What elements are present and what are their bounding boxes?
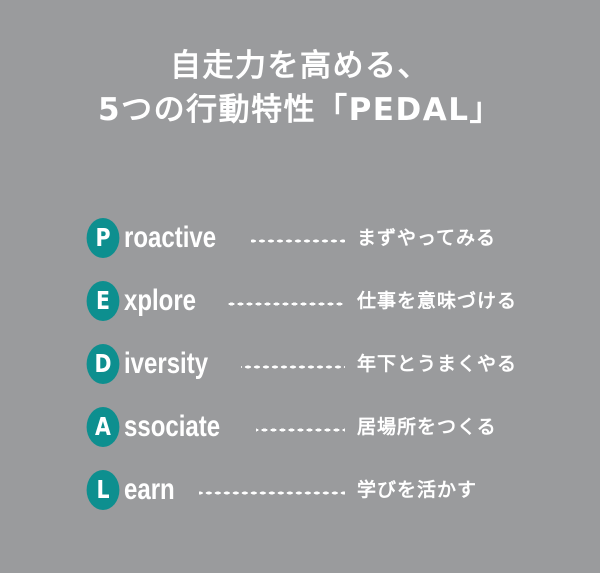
description-explore: 仕事を意味づける <box>357 281 523 321</box>
initial-badge-d: D <box>87 344 120 384</box>
list-item: A ssociate 居場所をつくる <box>83 395 523 458</box>
keyword-associate: ssociate <box>124 407 220 447</box>
list-item: P roactive まずやってみる <box>83 206 523 269</box>
initial-badge-l: L <box>87 470 120 510</box>
dot-leader <box>199 491 345 495</box>
dot-leader <box>241 365 345 369</box>
description-associate: 居場所をつくる <box>357 407 523 447</box>
list-item: E xplore 仕事を意味づける <box>83 269 523 332</box>
keyword-diversity: iversity <box>124 344 208 384</box>
description-diversity: 年下とうまくやる <box>357 344 523 384</box>
list-item: D iversity 年下とうまくやる <box>83 332 523 395</box>
page-title: 自走力を高める、 5つの行動特性「PEDAL」 <box>0 44 600 132</box>
initial-badge-e: E <box>87 281 120 321</box>
dot-leader <box>256 428 345 432</box>
initial-badge-a: A <box>87 407 120 447</box>
title-line-1: 自走力を高める、 <box>0 44 600 88</box>
pedal-list: P roactive まずやってみる E xplore 仕事を意味づける D i… <box>83 206 523 521</box>
description-proactive: まずやってみる <box>357 218 523 258</box>
title-line-2: 5つの行動特性「PEDAL」 <box>0 88 600 132</box>
keyword-proactive: roactive <box>124 218 216 258</box>
dot-leader <box>226 302 345 306</box>
initial-badge-p: P <box>87 218 120 258</box>
keyword-learn: earn <box>124 470 175 510</box>
pedal-infographic: 自走力を高める、 5つの行動特性「PEDAL」 P roactive まずやって… <box>0 0 600 573</box>
list-item: L earn 学びを活かす <box>83 458 523 521</box>
keyword-explore: xplore <box>124 281 196 321</box>
dot-leader <box>251 239 345 243</box>
description-learn: 学びを活かす <box>357 470 523 510</box>
